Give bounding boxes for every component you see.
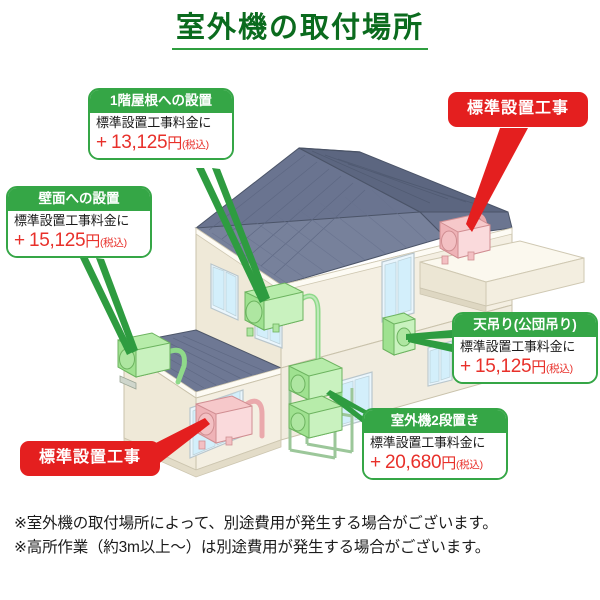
callout-ceiling-hung-price: + 15,125円(税込) — [460, 357, 592, 378]
callout-wall-price: + 15,125円(税込) — [14, 231, 146, 252]
callout-wall[interactable]: 壁面への設置 標準設置工事料金に + 15,125円(税込) — [6, 186, 152, 258]
price-amount: 13,125 — [111, 132, 167, 153]
callout-ceiling-hung-body: 標準設置工事料金に + 15,125円(税込) — [454, 337, 596, 382]
price-unit: 円 — [85, 233, 100, 250]
footer-note-2: ※高所作業（約3m以上〜）は別途費用が発生する場合がございます。 — [14, 536, 594, 560]
callout-wall-title: 壁面への設置 — [8, 188, 150, 211]
callout-two-tier-subtitle: 標準設置工事料金に — [370, 436, 502, 451]
infographic-page: 室外機の取付場所 — [0, 0, 600, 600]
callout-two-tier-body: 標準設置工事料金に + 20,680円(税込) — [364, 433, 506, 478]
callout-roof-1f-subtitle: 標準設置工事料金に — [96, 116, 228, 131]
callout-roof-1f[interactable]: 1階屋根への設置 標準設置工事料金に + 13,125円(税込) — [88, 88, 234, 160]
price-tax: (税込) — [546, 363, 573, 375]
price-unit: 円 — [441, 455, 456, 472]
price-prefix: + — [370, 452, 381, 473]
callout-ceiling-hung-title: 天吊り(公団吊り) — [454, 314, 596, 337]
price-prefix: + — [96, 132, 107, 153]
callout-roof-1f-title: 1階屋根への設置 — [90, 90, 232, 113]
price-prefix: + — [14, 230, 25, 251]
callout-ceiling-hung-subtitle: 標準設置工事料金に — [460, 340, 592, 355]
price-amount: 15,125 — [475, 356, 531, 377]
badge-standard-installation-bottom[interactable]: 標準設置工事 — [20, 441, 160, 476]
price-unit: 円 — [167, 135, 182, 152]
callout-wall-subtitle: 標準設置工事料金に — [14, 214, 146, 229]
price-tax: (税込) — [182, 139, 209, 151]
price-tax: (税込) — [100, 237, 127, 249]
price-amount: 20,680 — [385, 452, 441, 473]
callout-roof-1f-body: 標準設置工事料金に + 13,125円(税込) — [90, 113, 232, 158]
badge-standard-installation-top[interactable]: 標準設置工事 — [448, 92, 588, 127]
callout-two-tier-price: + 20,680円(税込) — [370, 453, 502, 474]
callout-wall-body: 標準設置工事料金に + 15,125円(税込) — [8, 211, 150, 256]
price-amount: 15,125 — [29, 230, 85, 251]
price-tax: (税込) — [456, 459, 483, 471]
callout-roof-1f-price: + 13,125円(税込) — [96, 133, 228, 154]
callout-two-tier-title: 室外機2段置き — [364, 410, 506, 433]
price-unit: 円 — [531, 359, 546, 376]
callout-two-tier[interactable]: 室外機2段置き 標準設置工事料金に + 20,680円(税込) — [362, 408, 508, 480]
footer-note-1: ※室外機の取付場所によって、別途費用が発生する場合がございます。 — [14, 512, 594, 536]
price-prefix: + — [460, 356, 471, 377]
house-illustration — [0, 0, 600, 600]
footer-notes: ※室外機の取付場所によって、別途費用が発生する場合がございます。 ※高所作業（約… — [14, 512, 594, 560]
callout-ceiling-hung[interactable]: 天吊り(公団吊り) 標準設置工事料金に + 15,125円(税込) — [452, 312, 598, 384]
